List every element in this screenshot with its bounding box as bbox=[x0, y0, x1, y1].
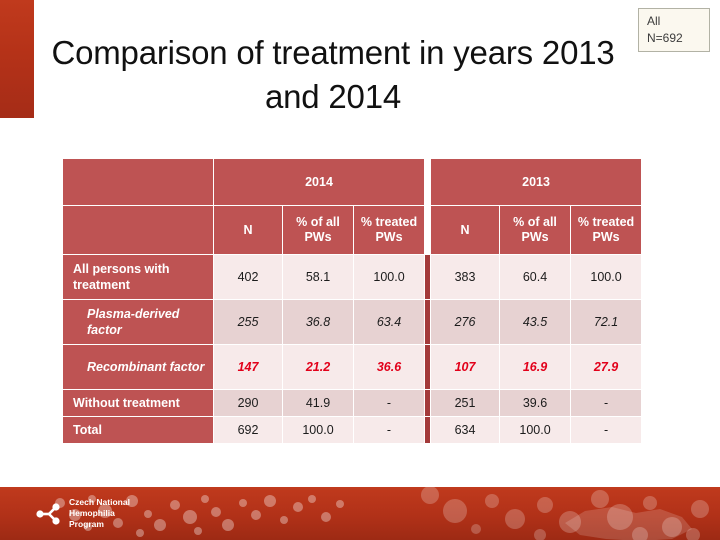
table-corner-cell-sub bbox=[63, 206, 213, 254]
treatment-comparison-table: 2014 2013 N % of all PWs % treated PWs N… bbox=[62, 158, 642, 444]
col-header-2014-pct-all-pws: % of all PWs bbox=[283, 206, 353, 254]
cell-2014-n: 402 bbox=[214, 255, 282, 299]
cell-2014-pct-treated: 100.0 bbox=[354, 255, 424, 299]
table-row: Plasma-derived factor 255 36.8 63.4 276 … bbox=[63, 300, 641, 344]
cell-2013-n: 634 bbox=[431, 417, 499, 443]
brand-line-1: Czech National bbox=[69, 497, 130, 508]
cell-2014-pct-all: 36.8 bbox=[283, 300, 353, 344]
cell-2013-pct-all: 16.9 bbox=[500, 345, 570, 389]
table-row: All persons with treatment 402 58.1 100.… bbox=[63, 255, 641, 299]
column-group-2014: 2014 bbox=[214, 159, 424, 205]
cell-2014-pct-treated: - bbox=[354, 417, 424, 443]
col-header-2013-pct-treated-pws: % treated PWs bbox=[571, 206, 641, 254]
cell-2013-n: 107 bbox=[431, 345, 499, 389]
cell-2013-pct-treated: - bbox=[571, 417, 641, 443]
molecule-icon bbox=[36, 501, 62, 527]
table-row-highlighted: Recombinant factor 147 21.2 36.6 107 16.… bbox=[63, 345, 641, 389]
cell-2013-pct-all: 100.0 bbox=[500, 417, 570, 443]
cell-2014-n: 147 bbox=[214, 345, 282, 389]
brand-text: Czech National Hemophilia Program bbox=[69, 497, 130, 530]
cell-2014-pct-all: 21.2 bbox=[283, 345, 353, 389]
cell-2013-pct-treated: 27.9 bbox=[571, 345, 641, 389]
cell-2014-pct-treated: 63.4 bbox=[354, 300, 424, 344]
cohort-badge-count: N=692 bbox=[647, 30, 709, 47]
row-divider bbox=[425, 255, 430, 299]
cell-2013-n: 383 bbox=[431, 255, 499, 299]
table-row: Total 692 100.0 - 634 100.0 - bbox=[63, 417, 641, 443]
row-divider bbox=[425, 300, 430, 344]
cell-2014-pct-treated: 36.6 bbox=[354, 345, 424, 389]
cell-2013-pct-all: 60.4 bbox=[500, 255, 570, 299]
decorative-accent-bar bbox=[0, 0, 34, 118]
table-header-sub-row: N % of all PWs % treated PWs N % of all … bbox=[63, 206, 641, 254]
row-label-all-persons: All persons with treatment bbox=[63, 255, 213, 299]
row-label-recombinant-factor: Recombinant factor bbox=[63, 345, 213, 389]
cell-2014-pct-all: 100.0 bbox=[283, 417, 353, 443]
cell-2014-n: 692 bbox=[214, 417, 282, 443]
cell-2013-pct-all: 39.6 bbox=[500, 390, 570, 416]
column-group-divider-sub bbox=[425, 206, 430, 254]
cell-2014-pct-all: 58.1 bbox=[283, 255, 353, 299]
cell-2013-pct-treated: 72.1 bbox=[571, 300, 641, 344]
brand-line-3: Program bbox=[69, 519, 130, 530]
col-header-2014-n: N bbox=[214, 206, 282, 254]
col-header-2014-pct-treated-pws: % treated PWs bbox=[354, 206, 424, 254]
cell-2013-n: 276 bbox=[431, 300, 499, 344]
cell-2013-pct-all: 43.5 bbox=[500, 300, 570, 344]
row-label-without-treatment: Without treatment bbox=[63, 390, 213, 416]
column-group-divider-top bbox=[425, 159, 430, 205]
table-corner-cell bbox=[63, 159, 213, 205]
table-row: Without treatment 290 41.9 - 251 39.6 - bbox=[63, 390, 641, 416]
brand-line-2: Hemophilia bbox=[69, 508, 130, 519]
cohort-badge-label: All bbox=[647, 13, 709, 30]
brand-logo: Czech National Hemophilia Program bbox=[36, 497, 130, 530]
col-header-2013-pct-all-pws: % of all PWs bbox=[500, 206, 570, 254]
cell-2014-pct-all: 41.9 bbox=[283, 390, 353, 416]
cell-2013-pct-treated: 100.0 bbox=[571, 255, 641, 299]
cell-2014-pct-treated: - bbox=[354, 390, 424, 416]
column-group-2013: 2013 bbox=[431, 159, 641, 205]
col-header-2013-n: N bbox=[431, 206, 499, 254]
table-header-group-row: 2014 2013 bbox=[63, 159, 641, 205]
czech-republic-map-icon bbox=[565, 507, 692, 540]
row-label-total: Total bbox=[63, 417, 213, 443]
row-divider bbox=[425, 417, 430, 443]
row-divider bbox=[425, 345, 430, 389]
page-title: Comparison of treatment in years 2013 an… bbox=[48, 31, 618, 119]
cell-2014-n: 255 bbox=[214, 300, 282, 344]
cell-2014-n: 290 bbox=[214, 390, 282, 416]
cell-2013-pct-treated: - bbox=[571, 390, 641, 416]
cell-2013-n: 251 bbox=[431, 390, 499, 416]
row-label-plasma-derived-factor: Plasma-derived factor bbox=[63, 300, 213, 344]
cohort-badge: All N=692 bbox=[638, 8, 710, 52]
row-divider bbox=[425, 390, 430, 416]
